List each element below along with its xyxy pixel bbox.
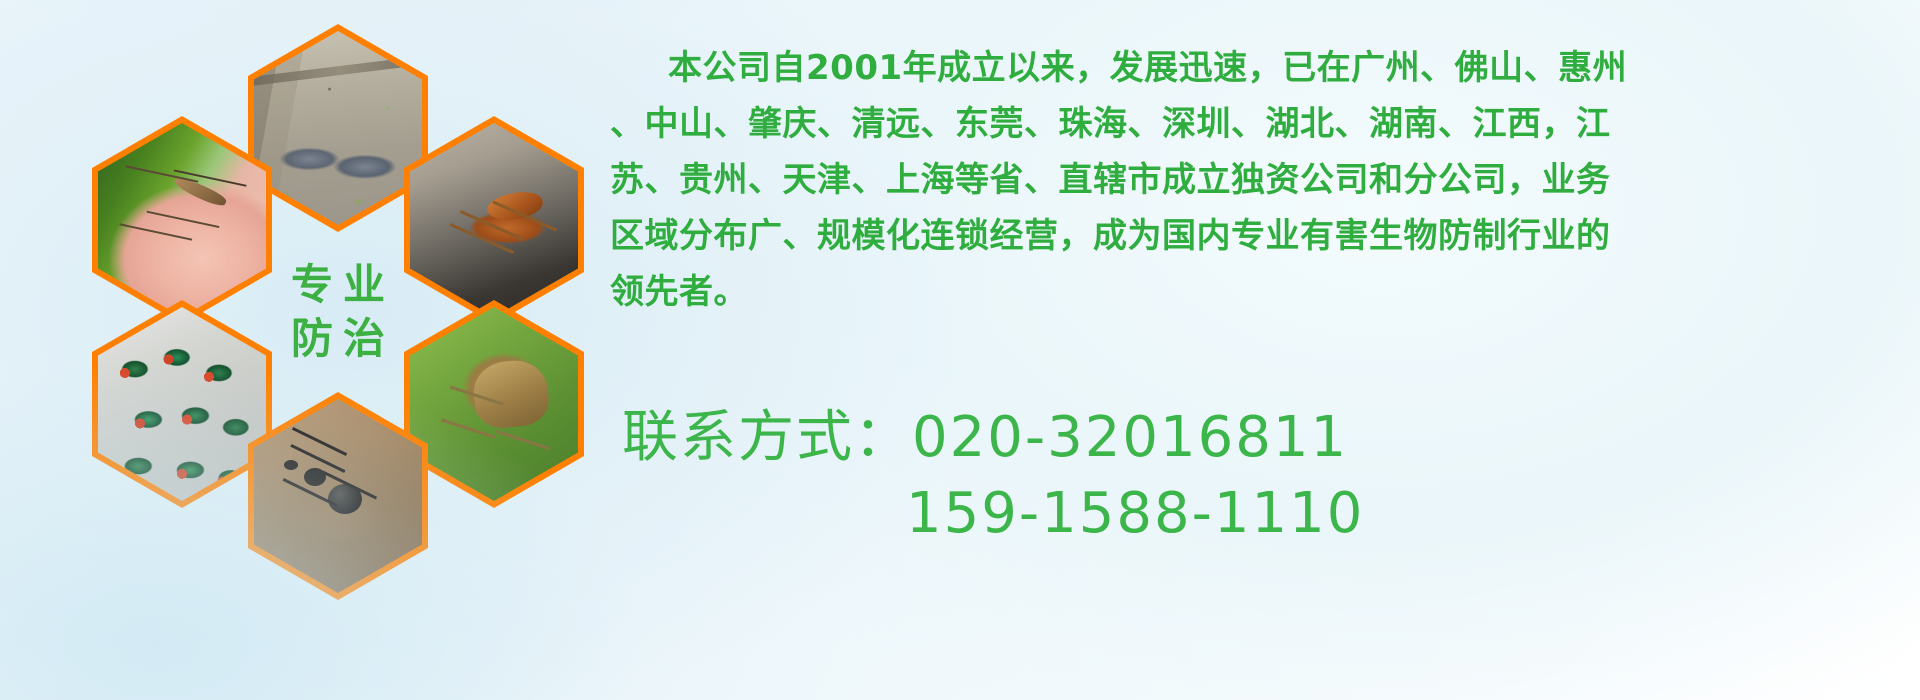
hex-inner-flies: [98, 307, 266, 501]
mosquito-photo: [98, 123, 266, 317]
about-line-2: 、中山、肇庆、清远、东莞、珠海、深圳、湖北、湖南、江西，江: [610, 96, 1910, 152]
stinkbug-photo: [410, 307, 578, 501]
hex-inner-rats: [254, 31, 422, 225]
contact-phone-secondary[interactable]: 159-1588-1110: [622, 476, 1722, 552]
cockroach-photo: [410, 123, 578, 317]
hex-inner-mosquito: [98, 123, 266, 317]
about-line-4: 区域分布广、规模化连锁经营，成为国内专业有害生物防制行业的: [610, 208, 1910, 264]
company-description: 本公司自2001年成立以来，发展迅速，已在广州、佛山、惠州 、中山、肇庆、清远、…: [610, 40, 1910, 320]
contact-info: 联系方式：020-32016811 159-1588-1110: [622, 400, 1722, 552]
slogan-line-2: 防治: [281, 318, 395, 360]
hex-tile-flies[interactable]: [92, 300, 272, 508]
hex-tile-stinkbug[interactable]: [404, 300, 584, 508]
hex-tile-slogan: 专业 防治: [248, 208, 428, 416]
rodent-photo: [254, 31, 422, 225]
hex-inner-stinkbug: [410, 307, 578, 501]
hexagon-image-cluster: 专业 防治: [92, 8, 582, 548]
hex-inner-slogan: 专业 防治: [248, 208, 428, 416]
flies-photo: [98, 307, 266, 501]
about-line-1: 本公司自2001年成立以来，发展迅速，已在广州、佛山、惠州: [610, 40, 1910, 96]
about-line-3: 苏、贵州、天津、上海等省、直辖市成立独资公司和分公司，业务: [610, 152, 1910, 208]
ant-photo: [254, 399, 422, 593]
hex-tile-rats[interactable]: [248, 24, 428, 232]
promo-banner: 专业 防治 本公司自2001年成立以来，发展迅速，已在广州、佛山、惠州 、中山、…: [0, 0, 1920, 700]
hex-inner-cockroach: [410, 123, 578, 317]
hex-tile-ant[interactable]: [248, 392, 428, 600]
contact-phone-primary[interactable]: 联系方式：020-32016811: [622, 400, 1722, 476]
hex-tile-mosquito[interactable]: [92, 116, 272, 324]
hex-inner-ant: [254, 399, 422, 593]
hex-tile-cockroach[interactable]: [404, 116, 584, 324]
slogan-line-1: 专业: [281, 264, 395, 306]
about-line-5: 领先者。: [610, 264, 1910, 320]
